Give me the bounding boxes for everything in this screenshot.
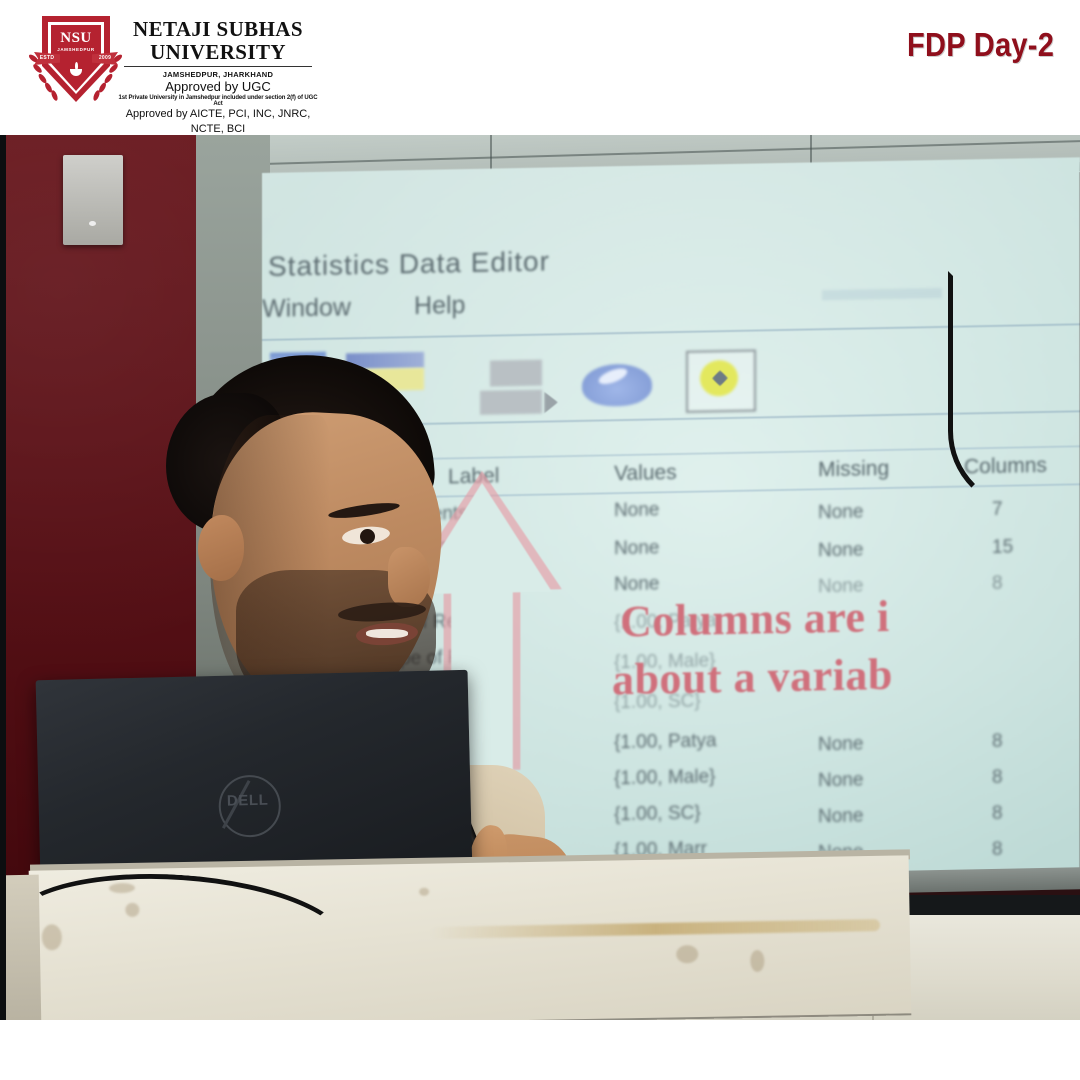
cell-values-2: None — [614, 573, 659, 596]
header-band: NSU JAMSHEDPUR ESTD 2009 NETAJI SUBHAS U… — [0, 0, 1080, 135]
cell-values-7: {1.00, Male} — [614, 766, 715, 790]
photo-left-edge — [0, 135, 6, 1020]
cell-values-8: {1.00, SC} — [614, 803, 701, 827]
spss-menu-window[interactable]: Window — [262, 293, 351, 324]
column-header-values: Values — [614, 461, 677, 486]
university-name-line1: NETAJI SUBHAS — [118, 18, 318, 41]
oil-lamp-icon — [70, 62, 82, 78]
cell-columns-6: 8 — [992, 731, 1003, 753]
shield-city-label: JAMSHEDPUR — [42, 47, 110, 52]
poster-canvas: NSU JAMSHEDPUR ESTD 2009 NETAJI SUBHAS U… — [0, 0, 1080, 1080]
cell-values-6: {1.00, Patya — [614, 730, 716, 754]
cell-columns-1: 15 — [992, 537, 1013, 559]
wall-speaker-unit — [63, 155, 123, 245]
pupil — [360, 529, 375, 544]
event-photograph: Statistics Data Editor Window Help Label… — [0, 135, 1080, 1020]
spss-menu-help[interactable]: Help — [414, 291, 465, 321]
annotation-line-1: Columns are i — [620, 591, 890, 647]
column-header-missing: Missing — [818, 457, 889, 482]
cell-values-1: None — [614, 537, 659, 560]
teeth — [366, 629, 408, 638]
overhead-cable — [948, 271, 1080, 511]
university-wordmark: NETAJI SUBHAS UNIVERSITY JAMSHEDPUR, JHA… — [118, 18, 318, 137]
ugc-approval-line: Approved by UGC — [118, 79, 318, 95]
ear — [198, 515, 244, 581]
approvals-line: Approved by AICTE, PCI, INC, JNRC, NCTE,… — [118, 107, 318, 137]
cell-missing-7: None — [818, 769, 863, 792]
university-logo-icon: NSU JAMSHEDPUR ESTD 2009 — [24, 12, 128, 120]
spss-window-title: Statistics Data Editor — [268, 245, 550, 282]
cell-columns-9: 8 — [992, 839, 1003, 861]
nose — [388, 547, 430, 607]
cell-missing-8: None — [818, 805, 863, 828]
university-name-line2: UNIVERSITY — [118, 41, 318, 64]
cell-missing-6: None — [818, 733, 863, 756]
cell-missing-0: None — [818, 501, 863, 524]
ugc-fine-print: 1st Private University in Jamshedpur inc… — [118, 95, 318, 107]
university-city: JAMSHEDPUR, JHARKHAND — [118, 70, 318, 79]
wordmark-divider — [124, 66, 312, 67]
cell-values-0: None — [614, 499, 659, 522]
cell-columns-8: 8 — [992, 803, 1003, 825]
annotation-line-2: about a variab — [612, 649, 893, 705]
cell-columns-2: 8 — [992, 573, 1003, 595]
cell-columns-7: 8 — [992, 767, 1003, 789]
cell-missing-1: None — [818, 539, 863, 562]
shield-icon: NSU JAMSHEDPUR ESTD 2009 — [42, 16, 110, 102]
dell-logo-text: DELL — [221, 792, 273, 810]
event-title: FDP Day-2 — [907, 26, 1054, 64]
shield-initials: NSU — [42, 30, 110, 47]
dell-laptop: DELL — [36, 670, 473, 880]
